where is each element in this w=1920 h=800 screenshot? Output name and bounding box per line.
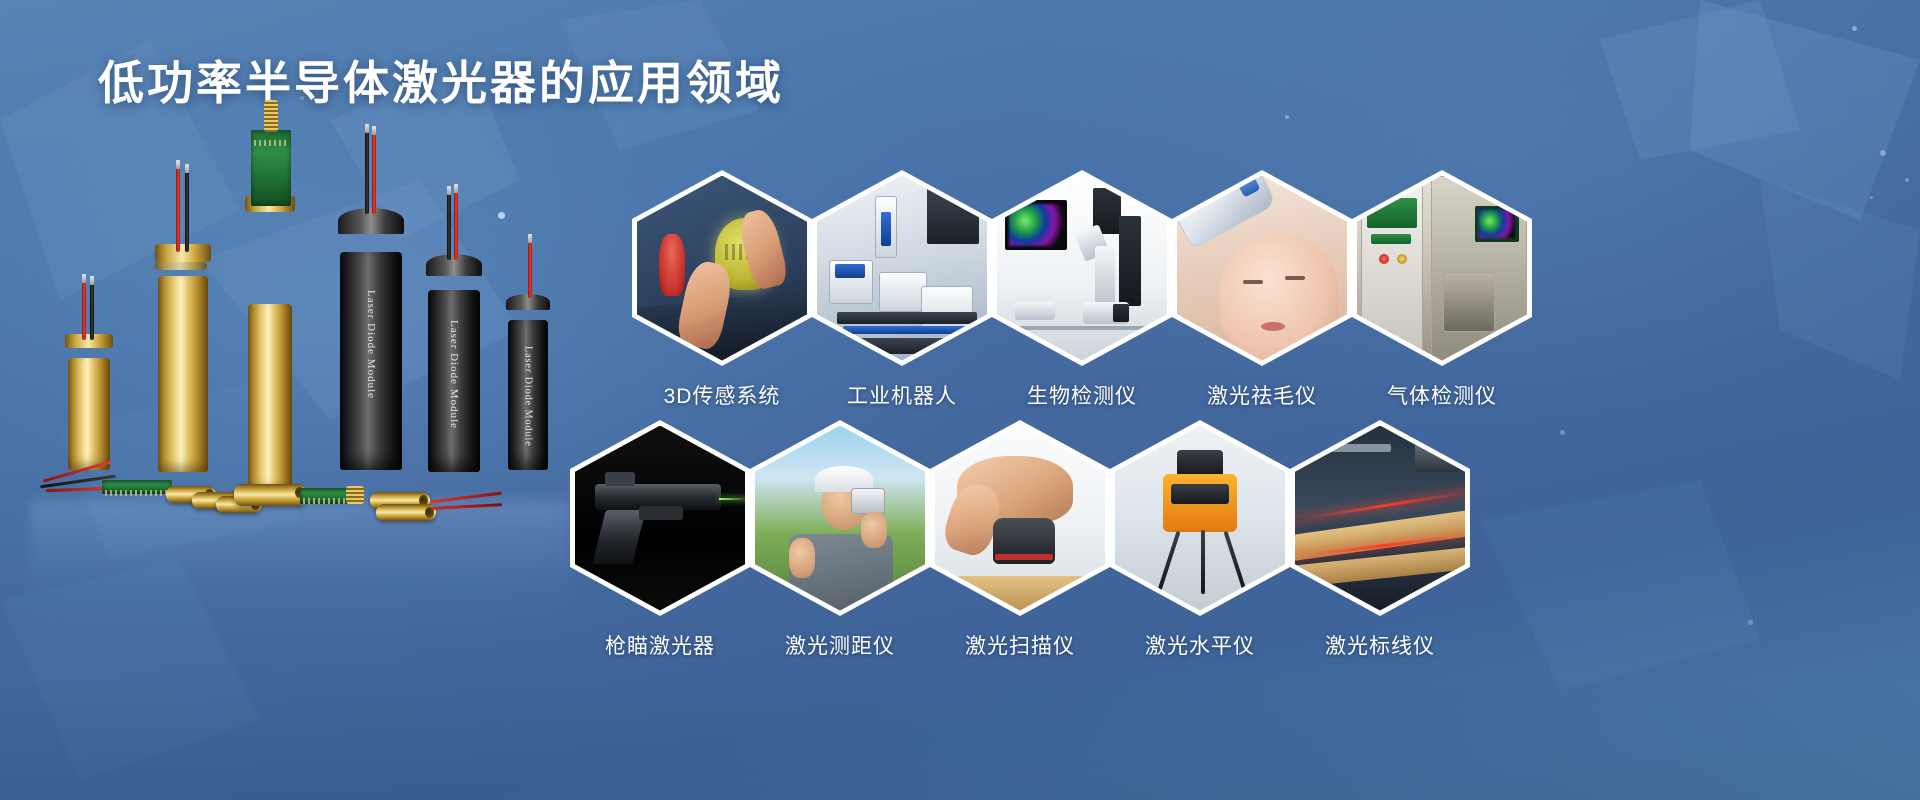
laser-module-brass-tall: [158, 252, 208, 472]
hex-image-laser-line-marker-icon: [1295, 426, 1465, 611]
hex-image-laser-hair-removal-icon: [1177, 176, 1347, 361]
hex-label: 气体检测仪: [1352, 380, 1532, 410]
hex-image-3d-sensing-icon: [637, 176, 807, 361]
hex-frame: [1352, 170, 1532, 366]
hex-frame: [1172, 170, 1352, 366]
hex-item-laser-level[interactable]: 激光水平仪: [1110, 420, 1290, 660]
hex-item-3d-sensing[interactable]: 3D传感系统: [632, 170, 812, 410]
hex-item-laser-scanner[interactable]: 激光扫描仪: [930, 420, 1110, 660]
hex-item-laser-hair-removal[interactable]: 激光祛毛仪: [1172, 170, 1352, 410]
hex-item-laser-rangefinder[interactable]: 激光测距仪: [750, 420, 930, 660]
hex-image-laser-level-icon: [1115, 426, 1285, 611]
laser-module-black-medium: Laser Diode Module: [428, 264, 480, 472]
loose-diode-module-angled: [234, 468, 384, 524]
hex-label: 激光扫描仪: [930, 630, 1110, 660]
hex-image-laser-rangefinder-icon: [755, 426, 925, 611]
laser-product-cluster: Laser Diode Module Laser Diode Module La…: [40, 170, 560, 590]
hex-frame: [930, 420, 1110, 616]
hex-label: 激光测距仪: [750, 630, 930, 660]
hex-item-gun-sight-laser[interactable]: 枪瞄激光器: [570, 420, 750, 660]
laser-module-brass-small: [68, 340, 110, 470]
hex-label: 生物检测仪: [992, 380, 1172, 410]
loose-diode-pair-right: [370, 478, 520, 528]
module-text-label: Laser Diode Module: [448, 320, 460, 429]
hex-item-bio-detector[interactable]: 生物检测仪: [992, 170, 1172, 410]
page-title: 低功率半导体激光器的应用领域: [98, 56, 784, 111]
hex-item-gas-detector[interactable]: 气体检测仪: [1352, 170, 1532, 410]
laser-module-black-large: Laser Diode Module: [340, 220, 402, 470]
laser-module-with-pcb: [248, 204, 294, 494]
module-text-label: Laser Diode Module: [365, 290, 377, 399]
hex-item-industrial-robot[interactable]: 工业机器人: [812, 170, 992, 410]
hex-image-bio-detector-icon: [997, 176, 1167, 361]
application-hex-grid: 3D传感系统: [540, 170, 1920, 770]
hex-frame: [812, 170, 992, 366]
hex-image-gas-detector-icon: [1357, 176, 1527, 361]
hex-frame: [570, 420, 750, 616]
hex-label: 激光标线仪: [1290, 630, 1470, 660]
hex-image-laser-scanner-icon: [935, 426, 1105, 611]
module-text-label: Laser Diode Module: [523, 346, 534, 447]
banner-root: 低功率半导体激光器的应用领域: [0, 0, 1920, 800]
hex-label: 3D传感系统: [632, 380, 812, 410]
hex-label: 激光水平仪: [1110, 630, 1290, 660]
hex-label: 激光祛毛仪: [1172, 380, 1352, 410]
hex-frame: [992, 170, 1172, 366]
hex-image-industrial-robot-icon: [817, 176, 987, 361]
hex-label: 枪瞄激光器: [570, 630, 750, 660]
hex-frame: [1110, 420, 1290, 616]
hex-frame: [632, 170, 812, 366]
hex-frame: [750, 420, 930, 616]
hex-label: 工业机器人: [812, 380, 992, 410]
hex-item-laser-line-marker[interactable]: 激光标线仪: [1290, 420, 1470, 660]
hex-image-gun-sight-laser-icon: [575, 426, 745, 611]
hex-frame: [1290, 420, 1470, 616]
